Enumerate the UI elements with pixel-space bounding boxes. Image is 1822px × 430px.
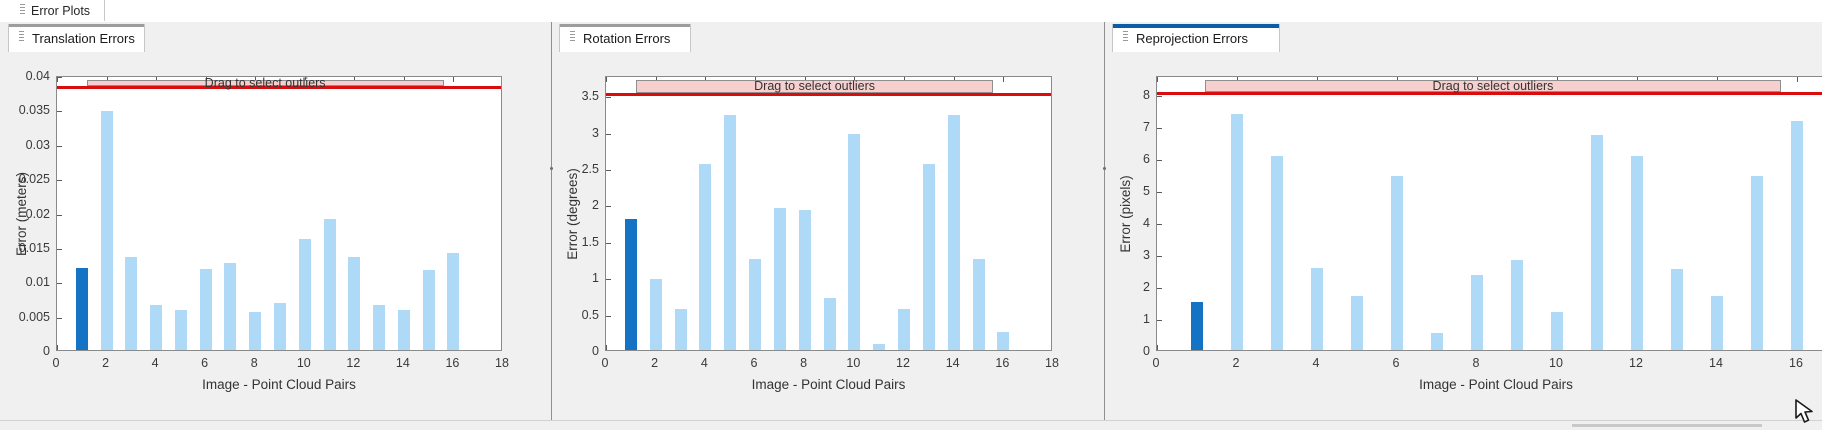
bar[interactable] bbox=[447, 253, 459, 350]
bar[interactable] bbox=[1751, 176, 1763, 350]
x-tick-label: 8 bbox=[251, 356, 258, 370]
panel-splitter-1[interactable] bbox=[551, 22, 552, 430]
grip-handle-icon bbox=[20, 4, 25, 17]
grip-handle-icon bbox=[570, 31, 575, 46]
x-tick-mark-top bbox=[1797, 77, 1798, 82]
y-tick-label: 7 bbox=[1143, 120, 1150, 134]
y-tick-label: 0.005 bbox=[19, 310, 50, 324]
x-tick-label: 16 bbox=[1789, 356, 1803, 370]
bar[interactable] bbox=[249, 312, 261, 351]
tab-accent-bar bbox=[1113, 24, 1279, 28]
x-tick-label: 2 bbox=[651, 356, 658, 370]
x-axis-label: Image - Point Cloud Pairs bbox=[56, 377, 502, 392]
x-tick-label: 6 bbox=[201, 356, 208, 370]
x-tick-label: 14 bbox=[396, 356, 410, 370]
y-tick-label: 2 bbox=[1143, 280, 1150, 294]
x-tick-label: 10 bbox=[846, 356, 860, 370]
x-tick-label: 6 bbox=[751, 356, 758, 370]
x-tick-label: 0 bbox=[53, 356, 60, 370]
y-tick-label: 0 bbox=[43, 344, 50, 358]
x-tick-label: 12 bbox=[896, 356, 910, 370]
bar[interactable] bbox=[175, 310, 187, 350]
bar[interactable] bbox=[923, 164, 935, 350]
y-tick-mark bbox=[57, 111, 62, 112]
document-tab-error-plots[interactable]: Error Plots bbox=[8, 0, 105, 21]
y-tick-label: 4 bbox=[1143, 216, 1150, 230]
panel-container: Translation Errors Drag to select outlie… bbox=[0, 22, 1822, 430]
bar[interactable] bbox=[898, 309, 910, 350]
y-tick-mark bbox=[1157, 160, 1162, 161]
bar[interactable] bbox=[650, 279, 662, 350]
y-tick-label: 0 bbox=[1143, 344, 1150, 358]
y-tick-mark bbox=[606, 134, 611, 135]
bar[interactable] bbox=[423, 270, 435, 350]
bar[interactable] bbox=[398, 310, 410, 350]
y-tick-mark bbox=[57, 146, 62, 147]
axes-frame: Drag to select outliers bbox=[1156, 76, 1822, 351]
panel-tabrow-2: Rotation Errors bbox=[551, 22, 1104, 52]
y-tick-mark bbox=[606, 206, 611, 207]
x-tick-label: 14 bbox=[946, 356, 960, 370]
x-tick-label: 16 bbox=[995, 356, 1009, 370]
x-tick-label: 10 bbox=[1549, 356, 1563, 370]
x-tick-label: 4 bbox=[701, 356, 708, 370]
y-tick-mark bbox=[57, 215, 62, 216]
bar[interactable] bbox=[699, 164, 711, 350]
x-tick-label: 2 bbox=[1233, 356, 1240, 370]
panel-tabrow-1: Translation Errors bbox=[0, 22, 551, 52]
y-tick-mark bbox=[57, 318, 62, 319]
y-tick-mark bbox=[606, 170, 611, 171]
bar[interactable] bbox=[799, 210, 811, 350]
panel-reprojection-errors: Reprojection Errors Drag to select outli… bbox=[1104, 22, 1822, 430]
tab-label: Reprojection Errors bbox=[1136, 31, 1248, 46]
x-tick-mark bbox=[1157, 345, 1158, 350]
x-tick-label: 4 bbox=[152, 356, 159, 370]
y-tick-label: 1 bbox=[592, 271, 599, 285]
bar[interactable] bbox=[1311, 268, 1323, 350]
bar[interactable] bbox=[848, 134, 860, 350]
y-tick-mark bbox=[1157, 192, 1162, 193]
y-tick-mark bbox=[1157, 256, 1162, 257]
plot-area-2: Drag to select outliers Error (degrees) … bbox=[551, 52, 1104, 430]
tab-translation-errors[interactable]: Translation Errors bbox=[8, 24, 145, 52]
bar[interactable] bbox=[1231, 114, 1243, 350]
bar[interactable] bbox=[101, 111, 113, 350]
y-tick-mark bbox=[606, 97, 611, 98]
x-axis-label: Image - Point Cloud Pairs bbox=[605, 377, 1052, 392]
x-tick-label: 2 bbox=[102, 356, 109, 370]
bottom-status-strip bbox=[0, 420, 1822, 430]
x-tick-mark-top bbox=[606, 77, 607, 82]
outlier-drag-band[interactable]: Drag to select outliers bbox=[87, 80, 444, 86]
bar[interactable] bbox=[1431, 333, 1443, 350]
y-tick-label: 2.5 bbox=[582, 162, 599, 176]
y-tick-label: 3 bbox=[592, 126, 599, 140]
plot-area-1: Drag to select outliers Error (meters) I… bbox=[0, 52, 551, 430]
bar[interactable] bbox=[1391, 176, 1403, 350]
document-tab-strip: Error Plots bbox=[0, 0, 1822, 23]
grip-handle-icon bbox=[1123, 31, 1128, 46]
bar[interactable] bbox=[675, 309, 687, 350]
y-tick-label: 1 bbox=[1143, 312, 1150, 326]
bar[interactable] bbox=[1791, 121, 1803, 350]
y-tick-label: 0.03 bbox=[26, 138, 50, 152]
y-tick-label: 0 bbox=[592, 344, 599, 358]
y-tick-label: 0.015 bbox=[19, 241, 50, 255]
tab-label: Translation Errors bbox=[32, 31, 135, 46]
x-axis-label: Image - Point Cloud Pairs bbox=[1156, 377, 1822, 392]
grip-handle-icon bbox=[19, 31, 24, 46]
error-plots-window: Error Plots Translation Errors Drag to s… bbox=[0, 0, 1822, 430]
bar[interactable] bbox=[824, 298, 836, 350]
bar[interactable] bbox=[224, 263, 236, 350]
bar[interactable] bbox=[625, 219, 637, 350]
y-tick-mark bbox=[57, 180, 62, 181]
plot-area-3: Drag to select outliers Error (pixels) I… bbox=[1104, 52, 1822, 430]
x-tick-label: 14 bbox=[1709, 356, 1723, 370]
bar[interactable] bbox=[774, 208, 786, 350]
axes-rotation-errors[interactable]: Drag to select outliers bbox=[605, 76, 1052, 351]
bar[interactable] bbox=[1711, 296, 1723, 350]
axes-frame: Drag to select outliers bbox=[56, 76, 502, 351]
x-tick-mark-top bbox=[453, 77, 454, 82]
bar[interactable] bbox=[348, 257, 360, 351]
bar[interactable] bbox=[373, 305, 385, 350]
panel-splitter-2[interactable] bbox=[1104, 22, 1105, 430]
tab-reprojection-errors[interactable]: Reprojection Errors bbox=[1112, 24, 1280, 52]
bar[interactable] bbox=[1471, 275, 1483, 350]
panel-tabrow-3: Reprojection Errors bbox=[1104, 22, 1822, 52]
y-tick-mark bbox=[57, 283, 62, 284]
bar[interactable] bbox=[324, 219, 336, 350]
bar[interactable] bbox=[749, 259, 761, 350]
y-tick-label: 0.5 bbox=[582, 308, 599, 322]
y-tick-mark bbox=[1157, 288, 1162, 289]
bar[interactable] bbox=[948, 115, 960, 350]
x-tick-label: 16 bbox=[445, 356, 459, 370]
x-tick-label: 8 bbox=[800, 356, 807, 370]
x-tick-label: 6 bbox=[1393, 356, 1400, 370]
y-tick-label: 5 bbox=[1143, 184, 1150, 198]
bar[interactable] bbox=[1671, 269, 1683, 350]
x-tick-mark bbox=[606, 345, 607, 350]
x-tick-mark bbox=[57, 345, 58, 350]
bar[interactable] bbox=[973, 259, 985, 350]
bar[interactable] bbox=[997, 332, 1009, 350]
y-axis-label: Error (pixels) bbox=[1118, 175, 1133, 252]
y-tick-mark bbox=[606, 279, 611, 280]
bar[interactable] bbox=[1631, 156, 1643, 350]
y-tick-mark bbox=[606, 243, 611, 244]
bar[interactable] bbox=[873, 344, 885, 350]
bar[interactable] bbox=[1591, 135, 1603, 350]
y-tick-label: 0.02 bbox=[26, 207, 50, 221]
y-tick-mark bbox=[606, 316, 611, 317]
y-tick-mark bbox=[1157, 320, 1162, 321]
y-tick-label: 0.01 bbox=[26, 275, 50, 289]
y-tick-label: 3 bbox=[1143, 248, 1150, 262]
panel-rotation-errors: Rotation Errors Drag to select outliers … bbox=[551, 22, 1104, 430]
y-tick-label: 3.5 bbox=[582, 89, 599, 103]
y-tick-label: 6 bbox=[1143, 152, 1150, 166]
y-axis-label: Error (degrees) bbox=[565, 168, 580, 260]
bar[interactable] bbox=[1351, 296, 1363, 350]
outlier-drag-band[interactable]: Drag to select outliers bbox=[636, 80, 994, 93]
y-tick-mark bbox=[1157, 128, 1162, 129]
bar[interactable] bbox=[200, 269, 212, 350]
tab-accent-bar bbox=[560, 24, 690, 27]
bar[interactable] bbox=[150, 305, 162, 350]
document-tab-label: Error Plots bbox=[31, 4, 90, 18]
bar[interactable] bbox=[1551, 312, 1563, 350]
horizontal-scrollbar[interactable] bbox=[1572, 424, 1762, 427]
y-tick-mark bbox=[1157, 96, 1162, 97]
splitter-grip-dot bbox=[1103, 167, 1106, 170]
y-tick-label: 2 bbox=[592, 198, 599, 212]
bar[interactable] bbox=[299, 239, 311, 350]
x-tick-mark-top bbox=[1003, 77, 1004, 82]
y-tick-label: 8 bbox=[1143, 88, 1150, 102]
x-tick-label: 10 bbox=[297, 356, 311, 370]
tab-label: Rotation Errors bbox=[583, 31, 670, 46]
x-tick-label: 0 bbox=[602, 356, 609, 370]
bar[interactable] bbox=[1511, 260, 1523, 350]
axes-reprojection-errors[interactable]: Drag to select outliers bbox=[1156, 76, 1822, 351]
x-tick-label: 12 bbox=[346, 356, 360, 370]
axes-frame: Drag to select outliers bbox=[605, 76, 1052, 351]
y-tick-label: 0.04 bbox=[26, 69, 50, 83]
panel-translation-errors: Translation Errors Drag to select outlie… bbox=[0, 22, 551, 430]
x-tick-label: 8 bbox=[1473, 356, 1480, 370]
tab-rotation-errors[interactable]: Rotation Errors bbox=[559, 24, 691, 52]
outlier-drag-band[interactable]: Drag to select outliers bbox=[1205, 80, 1781, 92]
bar[interactable] bbox=[724, 115, 736, 350]
y-tick-label: 0.035 bbox=[19, 103, 50, 117]
x-tick-label: 0 bbox=[1153, 356, 1160, 370]
x-tick-label: 12 bbox=[1629, 356, 1643, 370]
tab-accent-bar bbox=[9, 24, 144, 27]
x-tick-label: 4 bbox=[1313, 356, 1320, 370]
bar[interactable] bbox=[274, 303, 286, 350]
y-tick-label: 0.025 bbox=[19, 172, 50, 186]
splitter-grip-dot bbox=[550, 167, 553, 170]
y-tick-label: 1.5 bbox=[582, 235, 599, 249]
y-tick-mark bbox=[1157, 224, 1162, 225]
bar[interactable] bbox=[1271, 156, 1283, 350]
x-tick-label: 18 bbox=[495, 356, 509, 370]
y-tick-mark bbox=[57, 249, 62, 250]
x-tick-label: 18 bbox=[1045, 356, 1059, 370]
bar[interactable] bbox=[125, 257, 137, 351]
x-tick-mark-top bbox=[57, 77, 58, 82]
axes-translation-errors[interactable]: Drag to select outliers bbox=[56, 76, 502, 351]
x-tick-mark-top bbox=[1157, 77, 1158, 82]
bar[interactable] bbox=[1191, 302, 1203, 350]
bar[interactable] bbox=[76, 268, 88, 351]
